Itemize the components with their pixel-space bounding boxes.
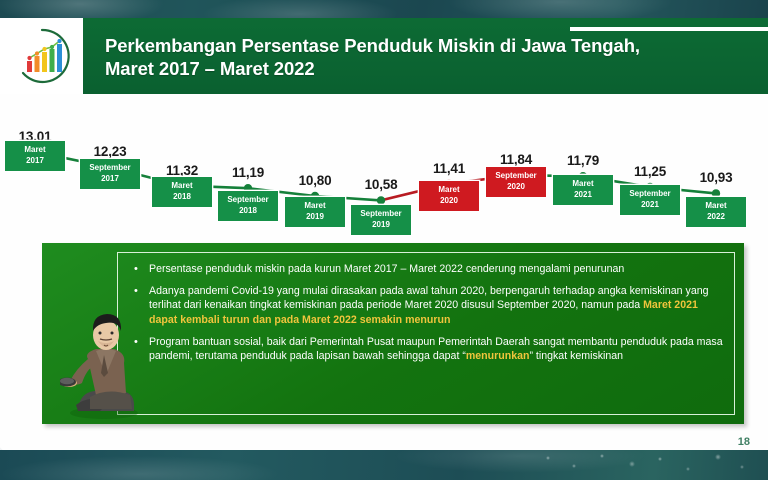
chart-value-label: 11,19 <box>232 165 264 180</box>
period-label-line1: Maret <box>555 179 611 190</box>
period-label-line2: 2018 <box>220 206 276 217</box>
plain-text: Adanya pandemi Covid-19 yang mulai diras… <box>149 285 709 311</box>
chart-value-label: 11,79 <box>567 153 599 168</box>
page-title-line1: Perkembangan Persentase Penduduk Miskin … <box>105 34 725 57</box>
chart-period-label: Maret2018 <box>151 176 213 208</box>
chart-period-label: September2021 <box>619 184 681 216</box>
period-label-line2: 2018 <box>154 192 210 203</box>
key-finding-text: Persentase penduduk miskin pada kurun Ma… <box>149 262 724 276</box>
chart-period-label: September2019 <box>350 204 412 236</box>
key-findings-panel: •Persentase penduduk miskin pada kurun M… <box>42 243 744 424</box>
page-title: Perkembangan Persentase Penduduk Miskin … <box>105 34 725 80</box>
chart-period-label: September2020 <box>485 166 547 198</box>
highlighted-text: menurunkan <box>466 350 530 362</box>
period-label-line2: 2021 <box>555 190 611 201</box>
page-number: 18 <box>738 436 750 448</box>
period-label-line1: Maret <box>154 181 210 192</box>
bps-statistics-logo <box>0 18 84 94</box>
bottom-decorative-band <box>0 450 768 480</box>
chart-value-label: 11,41 <box>433 161 465 176</box>
bullet-icon: • <box>134 262 149 276</box>
chart-value-label: 10,80 <box>299 173 332 188</box>
period-label-line1: September <box>220 195 276 206</box>
period-label-line1: September <box>622 189 678 200</box>
chart-period-label: September2018 <box>217 190 279 222</box>
period-label-line1: Maret <box>287 201 343 212</box>
period-label-line1: September <box>353 209 409 220</box>
chart-period-label: Maret2019 <box>284 196 346 228</box>
header-accent-line <box>570 27 768 31</box>
key-findings-list: •Persentase penduduk miskin pada kurun M… <box>134 262 724 371</box>
period-label-line2: 2017 <box>82 174 138 185</box>
period-label-line1: Maret <box>7 145 63 156</box>
chart-value-label: 10,58 <box>365 177 398 192</box>
period-label-line1: Maret <box>688 201 744 212</box>
top-decorative-band <box>0 0 768 18</box>
page-title-line2: Maret 2017 – Maret 2022 <box>105 57 725 80</box>
period-label-line2: 2022 <box>688 212 744 223</box>
chart-value-label: 10,93 <box>700 170 733 185</box>
chart-period-label: September2017 <box>79 158 141 190</box>
key-findings-border: •Persentase penduduk miskin pada kurun M… <box>117 252 735 415</box>
period-label-line2: 2019 <box>287 212 343 223</box>
period-label-line1: September <box>488 171 544 182</box>
key-finding-text: Program bantuan sosial, baik dari Pemeri… <box>149 335 724 363</box>
period-label-line1: Maret <box>421 185 477 196</box>
seated-poor-man-illustration <box>60 301 146 421</box>
key-finding-text: Adanya pandemi Covid-19 yang mulai diras… <box>149 284 724 327</box>
plain-text: Persentase penduduk miskin pada kurun Ma… <box>149 263 624 275</box>
period-label-line2: 2020 <box>488 182 544 193</box>
key-finding-item: •Persentase penduduk miskin pada kurun M… <box>134 262 724 276</box>
chart-period-label: Maret2017 <box>4 140 66 172</box>
plain-text: ” tingkat kemiskinan <box>529 350 623 362</box>
chart-period-label: Maret2022 <box>685 196 747 228</box>
key-finding-item: •Adanya pandemi Covid-19 yang mulai dira… <box>134 284 724 327</box>
poverty-line-chart: 13,0112,2311,3211,1910,8010,5811,4111,84… <box>0 100 768 240</box>
key-finding-item: •Program bantuan sosial, baik dari Pemer… <box>134 335 724 363</box>
chart-period-label: Maret2020 <box>418 180 480 212</box>
logo-svg <box>11 25 73 87</box>
period-label-line2: 2021 <box>622 200 678 211</box>
plain-text: Program bantuan sosial, baik dari Pemeri… <box>149 336 723 362</box>
period-label-line2: 2017 <box>7 156 63 167</box>
period-label-line2: 2019 <box>353 220 409 231</box>
chart-value-label: 11,25 <box>634 164 666 179</box>
chart-value-label: 11,84 <box>500 152 532 167</box>
period-label-line1: September <box>82 163 138 174</box>
period-label-line2: 2020 <box>421 196 477 207</box>
slide-header: Perkembangan Persentase Penduduk Miskin … <box>83 18 768 94</box>
chart-period-label: Maret2021 <box>552 174 614 206</box>
